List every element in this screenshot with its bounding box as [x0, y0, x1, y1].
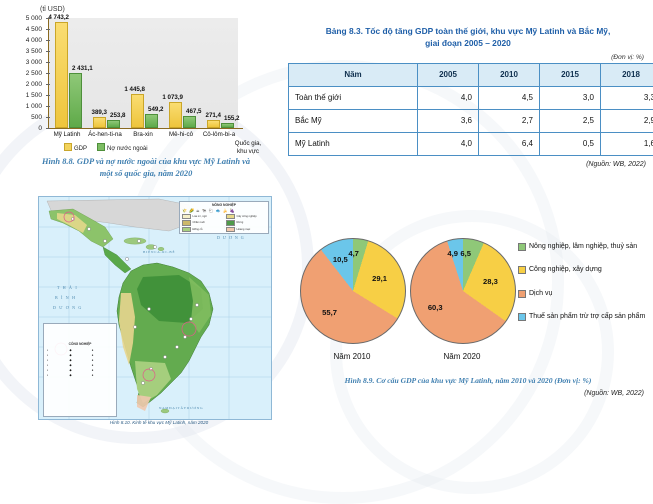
pie-legend-label: Công nghiệp, xây dựng — [529, 265, 602, 274]
table-row: Bắc Mỹ3,62,72,52,9-3,5 — [289, 109, 653, 132]
x-axis-category-label: Cô-lôm-bi-a — [199, 131, 239, 138]
table-row-name: Bắc Mỹ — [289, 109, 418, 132]
table-cell: 2,9 — [601, 109, 653, 132]
pie-slice-value-label: 55,7 — [322, 308, 337, 317]
table-header-cell: Năm — [289, 63, 418, 86]
y-axis-tick-mark — [46, 95, 50, 96]
table-row-name: Toàn thế giới — [289, 86, 418, 109]
table-cell: 1,6 — [601, 132, 653, 155]
pie-2020-title: Năm 2020 — [407, 352, 517, 361]
y-axis-tick-mark — [46, 40, 50, 41]
y-axis-tick-label: 2 000 — [12, 81, 42, 88]
bar-chart-legend: GDPNợ nước ngoài — [64, 143, 148, 152]
svg-text:N A M Đ Ạ I T Â Y D Ư Ơ N G: N A M Đ Ạ I T Â Y D Ư Ơ N G — [159, 405, 203, 410]
x-axis-title-line1: Quốc gia, — [235, 140, 261, 147]
y-axis-tick-label: 1 500 — [12, 92, 42, 99]
pie-legend-item: Thuế sản phẩm trừ trợ cấp sản phẩm — [518, 312, 650, 321]
x-axis-category-label: Ác-hen-ti-na — [85, 131, 125, 138]
bar-value-label: 389,3 — [92, 109, 107, 116]
gdp-growth-table-figure: Bảng 8.3. Tốc độ tăng GDP toàn thế giới,… — [286, 26, 650, 181]
table-cell: 4,5 — [479, 86, 540, 109]
pie-legend-swatch — [518, 243, 526, 251]
bar-legend-item: GDP — [64, 143, 87, 152]
bar-group: 1 073,9467,5 — [169, 18, 196, 128]
bar-gdp: 4 743,2 — [55, 22, 68, 128]
bar-value-label: 271,4 — [206, 112, 221, 119]
x-axis-category-label: Bra-xin — [123, 131, 163, 138]
bar-legend-label: Nợ nước ngoài — [107, 146, 148, 152]
table-row: Mỹ Latinh4,06,40,51,6-6,7 — [289, 132, 653, 155]
y-axis-tick-mark — [46, 117, 50, 118]
table-header-cell: 2018 — [601, 63, 653, 86]
bar-chart-x-axis — [48, 128, 243, 129]
y-axis-tick-mark — [46, 128, 50, 129]
bar-foreign-debt: 253,8 — [107, 120, 120, 128]
y-axis-tick-label: 5 000 — [12, 15, 42, 22]
bar-group: 1 445,8549,2 — [131, 18, 158, 128]
table-header-cell: 2005 — [418, 63, 479, 86]
bar-chart-x-axis-title: Quốc gia, khu vực — [220, 140, 276, 156]
gdp-growth-table: Năm20052010201520182020 Toàn thế giới4,0… — [288, 63, 653, 156]
pie-legend-swatch — [518, 313, 526, 321]
pie-legend-swatch — [518, 266, 526, 274]
bar-value-label: 1 073,9 — [162, 94, 183, 101]
y-axis-tick-label: 500 — [12, 114, 42, 121]
bar-legend-label: GDP — [74, 146, 87, 152]
bar-chart-y-unit: (tỉ USD) — [40, 6, 65, 13]
pie-slice-value-label: 4,9 — [447, 249, 458, 258]
bar-value-label: 155,2 — [224, 115, 239, 122]
pie-legend-item: Nông nghiệp, lâm nghiệp, thuỷ sản — [518, 242, 650, 251]
map-legend-swatch — [226, 220, 235, 226]
map-legend-row: Đồng cỏ — [180, 226, 224, 233]
map-legend-label: Rừng — [237, 221, 244, 224]
map-legend-label: Lúa mì, ngô — [193, 215, 207, 218]
map-legend-swatch — [226, 227, 235, 233]
y-axis-tick-label: 4 500 — [12, 26, 42, 33]
table-title-line2: giai đoạn 2005 – 2020 — [425, 38, 511, 48]
gdp-structure-pie-figure: 4,729,155,710,5 Năm 2010 6,528,360,34,9 … — [292, 224, 650, 424]
bar-foreign-debt: 2 431,1 — [69, 73, 82, 128]
y-axis-tick-mark — [46, 73, 50, 74]
bar-value-label: 467,5 — [186, 108, 201, 115]
table-cell: 6,4 — [479, 132, 540, 155]
map-canvas: T H Á I B Ì N H D Ư Ơ N G Đ Ạ I T Â Y D … — [38, 196, 272, 420]
bar-chart-caption: Hình 8.8. GDP và nợ nước ngoài của khu v… — [10, 156, 282, 180]
map-legend-label: Hoang mạc — [237, 228, 251, 231]
pie-slice-value-label: 10,5 — [333, 255, 348, 264]
x-axis-title-line2: khu vực — [237, 148, 259, 155]
bar-caption-line1: Hình 8.8. GDP và nợ nước ngoài của khu v… — [42, 157, 250, 166]
table-header-row: Năm20052010201520182020 — [289, 63, 653, 86]
bar-gdp: 271,4 — [207, 120, 220, 128]
bar-legend-item: Nợ nước ngoài — [97, 143, 148, 152]
pie-slice-value-label: 28,3 — [483, 277, 498, 286]
bar-gdp: 389,3 — [93, 117, 106, 128]
x-axis-category-label: Mỹ Latinh — [47, 131, 87, 138]
table-cell: 0,5 — [540, 132, 601, 155]
map-legend-label: Cây công nghiệp — [237, 215, 257, 218]
pie-slice-value-label: 4,7 — [348, 249, 359, 258]
svg-text:T H Á I: T H Á I — [57, 285, 78, 290]
y-axis-tick-label: 3 500 — [12, 48, 42, 55]
table-cell: 3,6 — [418, 109, 479, 132]
table-row: Toàn thế giới4,04,53,03,3-3,3 — [289, 86, 653, 109]
bar-legend-swatch — [97, 143, 105, 151]
table-cell: 2,5 — [540, 109, 601, 132]
svg-text:D Ư Ơ N G: D Ư Ơ N G — [53, 305, 82, 310]
pie-2010-title: Năm 2010 — [297, 352, 407, 361]
table-header-cell: 2010 — [479, 63, 540, 86]
bar-value-label: 1 445,8 — [124, 86, 145, 93]
bar-foreign-debt: 467,5 — [183, 116, 196, 128]
pie-slice-value-label: 60,3 — [428, 303, 443, 312]
latin-america-economy-map-figure: T H Á I B Ì N H D Ư Ơ N G Đ Ạ I T Â Y D … — [28, 196, 290, 436]
svg-text:B Ì N H: B Ì N H — [55, 295, 76, 300]
table-cell: 4,0 — [418, 132, 479, 155]
bar-group: 389,3253,8 — [93, 18, 120, 128]
bar-value-label: 549,2 — [148, 106, 163, 113]
pie-slice-value-label: 6,5 — [460, 249, 471, 258]
bar-group: 4 743,22 431,1 — [55, 18, 82, 128]
map-legend-label: Chăn nuôi — [193, 221, 205, 224]
table-cell: 4,0 — [418, 86, 479, 109]
table-unit-label: (Đơn vị: %) — [286, 54, 644, 61]
y-axis-tick-mark — [46, 62, 50, 63]
y-axis-tick-label: 3 000 — [12, 59, 42, 66]
bar-foreign-debt: 155,2 — [221, 123, 234, 128]
pie-slice-value-label: 29,1 — [372, 274, 387, 283]
bar-value-label: 253,8 — [110, 112, 125, 119]
pie-legend-swatch — [518, 290, 526, 298]
x-axis-category-label: Mê-hi-cô — [161, 131, 201, 138]
bar-gdp: 1 445,8 — [131, 94, 144, 128]
map-legend-swatch — [182, 227, 191, 233]
table-source: (Nguồn: WB, 2022) — [286, 161, 650, 168]
map-legend-label: Đồng cỏ — [193, 228, 203, 231]
table-title: Bảng 8.3. Tốc độ tăng GDP toàn thế giới,… — [286, 26, 650, 50]
pie-source: (Nguồn: WB, 2022) — [292, 390, 644, 397]
map-legend-industry: CÔNG NGHIỆP ▪◆● ▪◆● ▪◆● ▪◆● ▪◆● ▪◆● — [43, 323, 117, 417]
bar-legend-swatch — [64, 143, 72, 151]
y-axis-tick-mark — [46, 51, 50, 52]
map-legend-row: Hoang mạc — [224, 226, 268, 233]
bar-caption-line2: một số quốc gia, năm 2020 — [100, 169, 193, 178]
bar-group: 271,4155,2 — [207, 18, 234, 128]
pie-caption: Hình 8.9. Cơ cấu GDP của khu vực Mỹ Lati… — [292, 376, 644, 385]
table-title-line1: Bảng 8.3. Tốc độ tăng GDP toàn thế giới,… — [326, 26, 611, 36]
map-caption: Hình 8.10. Kinh tế khu vực Mỹ Latinh, nă… — [28, 420, 290, 425]
svg-text:B I Ể N C A - R I - B Ê: B I Ể N C A - R I - B Ê — [143, 249, 175, 254]
pie-legend-label: Dịch vụ — [529, 289, 552, 298]
bar-foreign-debt: 549,2 — [145, 114, 158, 128]
map-legend-industry-title: CÔNG NGHIỆP — [44, 324, 116, 346]
y-axis-tick-label: 1 000 — [12, 103, 42, 110]
pie-legend-label: Thuế sản phẩm trừ trợ cấp sản phẩm — [529, 312, 645, 321]
y-axis-tick-mark — [46, 106, 50, 107]
y-axis-tick-mark — [46, 29, 50, 30]
map-legend-swatch — [226, 214, 235, 220]
pie-chart-legend: Nông nghiệp, lâm nghiệp, thuỷ sảnCông ng… — [518, 242, 650, 336]
bar-gdp: 1 073,9 — [169, 102, 182, 128]
table-cell: 2,7 — [479, 109, 540, 132]
y-axis-tick-label: 0 — [12, 125, 42, 132]
table-cell: 3,3 — [601, 86, 653, 109]
bar-value-label: 2 431,1 — [72, 65, 93, 72]
table-header-cell: 2015 — [540, 63, 601, 86]
map-legend-swatch — [182, 214, 191, 220]
bar-chart-figure: (tỉ USD) 05001 0001 5002 0002 5003 0003 … — [4, 4, 288, 194]
y-axis-tick-label: 4 000 — [12, 37, 42, 44]
svg-text:D Ư Ơ N G: D Ư Ơ N G — [217, 235, 245, 240]
bar-chart-plot: (tỉ USD) 05001 0001 5002 0002 5003 0003 … — [4, 4, 288, 156]
map-legend-agriculture: NÔNG NGHIỆP 🌾🌽 ☕🐄 🐑🐟 🍌🍇 Lúa mì, ngôCây c… — [179, 201, 269, 234]
y-axis-tick-label: 2 500 — [12, 70, 42, 77]
pie-legend-item: Dịch vụ — [518, 289, 650, 298]
map-legend-swatch — [182, 220, 191, 226]
bar-value-label: 4 743,2 — [48, 14, 69, 21]
pie-legend-item: Công nghiệp, xây dựng — [518, 265, 650, 274]
table-row-name: Mỹ Latinh — [289, 132, 418, 155]
pie-legend-label: Nông nghiệp, lâm nghiệp, thuỷ sản — [529, 242, 637, 251]
y-axis-tick-mark — [46, 84, 50, 85]
table-cell: 3,0 — [540, 86, 601, 109]
